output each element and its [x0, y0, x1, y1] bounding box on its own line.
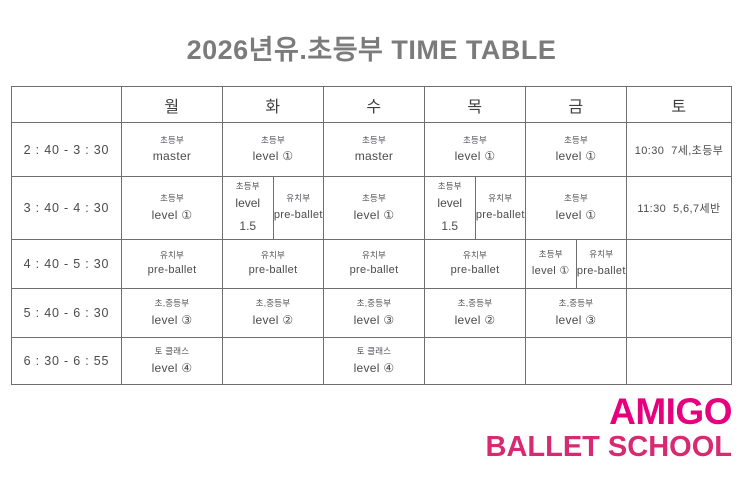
class-category: 초등부	[539, 249, 563, 260]
class-cell-split: 초등부 level1.5 유치부 pre-ballet	[223, 177, 324, 240]
amigo-ballet-school-logo: AMIGO BALLET SCHOOL	[486, 393, 733, 462]
class-cell-empty	[627, 289, 732, 338]
class-level: level	[437, 196, 462, 212]
logo-line-amigo: AMIGO	[486, 393, 733, 430]
class-cell-empty	[526, 338, 627, 385]
class-category: 유치부	[488, 193, 512, 204]
saturday-class-text: 11:30 5,6,7세반	[627, 177, 731, 239]
class-cell-split: 초등부 level1.5 유치부 pre-ballet	[425, 177, 526, 240]
class-cell: 초,중등부level ③	[526, 289, 627, 338]
time-label: 3 : 40 - 4 : 30	[12, 177, 122, 240]
time-label: 6 : 30 - 6 : 55	[12, 338, 122, 385]
class-level: level ④	[354, 361, 395, 376]
class-cell: 초등부level ①	[526, 123, 627, 177]
timetable: 월 화 수 목 금 토 2 : 40 - 3 : 30 초등부master 초등…	[11, 86, 732, 385]
class-level: pre-ballet	[451, 264, 500, 278]
class-category: 초등부	[564, 193, 588, 204]
class-category: 초등부	[160, 135, 184, 146]
class-level-secondary: 1.5	[239, 219, 256, 235]
class-level: level ①	[455, 149, 496, 164]
class-cell-empty	[627, 240, 732, 289]
class-category: 초등부	[236, 181, 260, 192]
class-category: 초등부	[362, 135, 386, 146]
class-level: level ①	[152, 208, 193, 223]
class-cell: 초등부level ①	[425, 123, 526, 177]
day-header-fri: 금	[526, 87, 627, 123]
day-header-thu: 목	[425, 87, 526, 123]
class-category: 초등부	[261, 135, 285, 146]
class-category: 유치부	[160, 250, 184, 261]
class-subcell-left: 초등부 level1.5	[223, 177, 274, 239]
class-category: 유치부	[463, 250, 487, 261]
class-category: 유치부	[362, 250, 386, 261]
class-subcell-left: 초등부 level ①	[526, 240, 577, 288]
day-header-mon: 월	[122, 87, 223, 123]
class-category: 유치부	[589, 249, 613, 260]
class-cell: 초,중등부level ③	[122, 289, 223, 338]
class-cell-saturday: 10:30 7세,초등부	[627, 123, 732, 177]
class-level: level ②	[455, 313, 496, 328]
class-level: level ④	[152, 361, 193, 376]
class-level: pre-ballet	[249, 264, 298, 278]
class-cell: 초등부level ①	[223, 123, 324, 177]
class-category: 토 클래스	[155, 346, 190, 357]
table-header-row: 월 화 수 목 금 토	[12, 87, 732, 123]
timetable-body: 2 : 40 - 3 : 30 초등부master 초등부level ① 초등부…	[12, 123, 732, 385]
class-cell: 초,중등부level ③	[324, 289, 425, 338]
class-subcell-left: 초등부 level1.5	[425, 177, 476, 239]
class-cell-saturday: 11:30 5,6,7세반	[627, 177, 732, 240]
page-title: 2026년유.초등부 TIME TABLE	[0, 28, 743, 67]
class-cell-split: 초등부 level ① 유치부 pre-ballet	[526, 240, 627, 289]
class-level-secondary: 1.5	[441, 219, 458, 235]
timetable-container: 월 화 수 목 금 토 2 : 40 - 3 : 30 초등부master 초등…	[11, 86, 731, 385]
class-cell: 유치부pre-ballet	[324, 240, 425, 289]
class-cell: 초등부master	[122, 123, 223, 177]
class-level: master	[355, 149, 393, 164]
class-cell: 초등부level ①	[324, 177, 425, 240]
class-category: 초등부	[160, 193, 184, 204]
table-row: 6 : 30 - 6 : 55 토 클래스level ④ 토 클래스level …	[12, 338, 732, 385]
class-level: level ①	[354, 208, 395, 223]
header-corner	[12, 87, 122, 123]
class-level: level ①	[532, 264, 570, 278]
class-category: 초등부	[362, 193, 386, 204]
class-level: level ③	[152, 313, 193, 328]
class-level: pre-ballet	[350, 264, 399, 278]
class-level: level ②	[253, 313, 294, 328]
class-category: 초,중등부	[357, 298, 392, 309]
class-level: pre-ballet	[577, 264, 626, 278]
class-cell: 초,중등부level ②	[223, 289, 324, 338]
class-level: level	[235, 196, 260, 212]
class-subcell-right: 유치부 pre-ballet	[476, 177, 526, 239]
class-cell: 유치부pre-ballet	[425, 240, 526, 289]
class-cell-empty	[425, 338, 526, 385]
class-cell: 토 클래스level ④	[324, 338, 425, 385]
class-category: 유치부	[286, 193, 310, 204]
class-level: master	[153, 149, 191, 164]
table-row: 2 : 40 - 3 : 30 초등부master 초등부level ① 초등부…	[12, 123, 732, 177]
class-category: 토 클래스	[357, 346, 392, 357]
class-level: level ③	[354, 313, 395, 328]
table-row: 5 : 40 - 6 : 30 초,중등부level ③ 초,중등부level …	[12, 289, 732, 338]
class-category: 초등부	[564, 135, 588, 146]
class-cell: 유치부pre-ballet	[122, 240, 223, 289]
class-category: 초등부	[463, 135, 487, 146]
day-header-tue: 화	[223, 87, 324, 123]
table-row: 4 : 40 - 5 : 30 유치부pre-ballet 유치부pre-bal…	[12, 240, 732, 289]
class-subcell-right: 유치부 pre-ballet	[577, 240, 627, 288]
time-label: 2 : 40 - 3 : 30	[12, 123, 122, 177]
class-cell: 초등부master	[324, 123, 425, 177]
class-cell: 초등부level ①	[526, 177, 627, 240]
class-category: 초,중등부	[256, 298, 291, 309]
class-level: level ③	[556, 313, 597, 328]
day-header-sat: 토	[627, 87, 732, 123]
logo-line-ballet-school: BALLET SCHOOL	[486, 433, 733, 462]
class-level: level ①	[556, 149, 597, 164]
class-subcell-right: 유치부 pre-ballet	[274, 177, 324, 239]
class-level: level ①	[556, 208, 597, 223]
class-level: pre-ballet	[148, 264, 197, 278]
class-cell-empty	[223, 338, 324, 385]
class-cell: 초,중등부level ②	[425, 289, 526, 338]
table-row: 3 : 40 - 4 : 30 초등부level ① 초등부 level1.5 …	[12, 177, 732, 240]
time-label: 4 : 40 - 5 : 30	[12, 240, 122, 289]
time-label: 5 : 40 - 6 : 30	[12, 289, 122, 338]
class-level: level ①	[253, 149, 294, 164]
class-cell: 초등부level ①	[122, 177, 223, 240]
class-category: 유치부	[261, 250, 285, 261]
class-cell: 토 클래스level ④	[122, 338, 223, 385]
day-header-wed: 수	[324, 87, 425, 123]
class-cell-empty	[627, 338, 732, 385]
class-category: 초,중등부	[559, 298, 594, 309]
class-category: 초,중등부	[458, 298, 493, 309]
class-level: pre-ballet	[274, 208, 323, 222]
class-category: 초,중등부	[155, 298, 190, 309]
saturday-class-text: 10:30 7세,초등부	[627, 123, 731, 176]
class-category: 초등부	[438, 181, 462, 192]
class-level: pre-ballet	[476, 208, 525, 222]
class-cell: 유치부pre-ballet	[223, 240, 324, 289]
